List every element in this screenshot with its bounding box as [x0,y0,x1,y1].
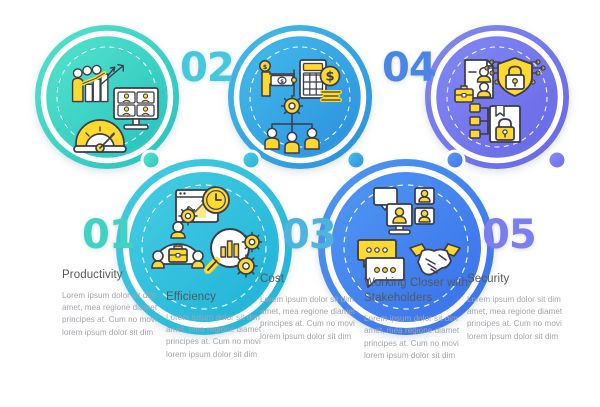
connector-dot-5-end[interactable] [550,153,565,168]
step-text-2: Efficiency Lorem ipsum dolor sit dim ame… [166,290,270,361]
connector-dot-2-3[interactable] [244,153,259,168]
connector-dot-3-4[interactable] [349,153,364,168]
step-text-5: Security Lorem ipsum dolor sit dim amet,… [467,272,571,343]
svg-text:$: $ [325,70,334,85]
step-text-3: Cost Lorem ipsum dolor sit dim amet, mea… [260,272,364,343]
svg-text:$: $ [263,63,268,71]
step-number-04: 04 [382,48,436,88]
step-circle-3[interactable]: $ $ $ [228,25,372,169]
step-text-1: Productivity Lorem ipsum dolor sit dim a… [62,268,166,339]
step-number-02: 02 [180,48,234,88]
step-body-4: Lorem ipsum dolor sit dim amet, mea regi… [364,313,468,362]
step-number-03: 03 [282,215,336,255]
connector-dot-4-5[interactable] [448,153,463,168]
step-body-1: Lorem ipsum dolor sit dim amet, mea regi… [62,290,166,339]
step-body-5: Lorem ipsum dolor sit dim amet, mea regi… [467,294,571,343]
step-number-05: 05 [482,215,536,255]
infographic-canvas: $ $ $ [0,0,600,407]
locked-folder-icon [470,104,520,142]
step-title-1: Productivity [62,268,166,283]
step-number-01: 01 [82,215,136,255]
step-body-3: Lorem ipsum dolor sit dim amet, mea regi… [260,294,364,343]
step-title-2: Efficiency [166,290,270,305]
svg-text:$: $ [280,79,284,85]
step-title-4: Working Closer with Stakeholders [364,276,468,306]
connector-dot-1-2[interactable] [144,153,159,168]
step-title-5: Security [467,272,571,287]
step-circle-5[interactable] [425,25,569,169]
step-text-4: Working Closer with Stakeholders Lorem i… [364,276,468,362]
infographic-graphics: $ $ $ [0,0,600,407]
step-body-2: Lorem ipsum dolor sit dim amet, mea regi… [166,312,270,361]
step-title-3: Cost [260,272,364,287]
step-circle-1[interactable] [35,25,179,169]
